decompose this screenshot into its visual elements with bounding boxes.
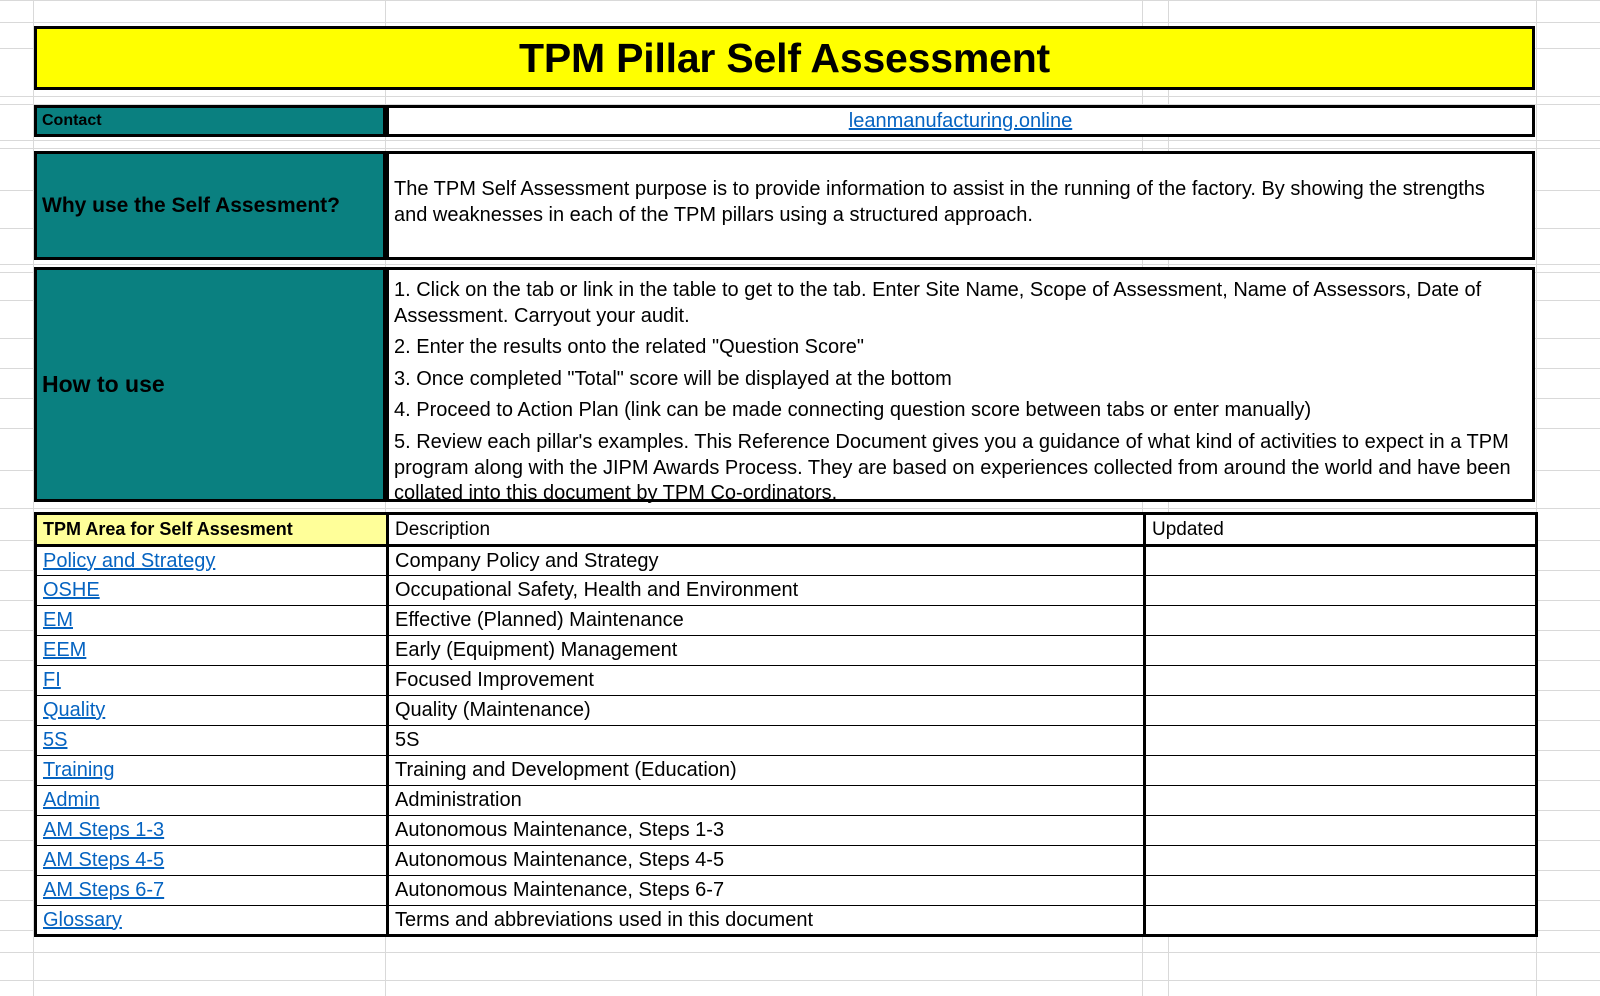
- cell-area: OSHE: [36, 576, 388, 606]
- table-row: EMEffective (Planned) Maintenance: [36, 606, 1537, 636]
- table-row: QualityQuality (Maintenance): [36, 696, 1537, 726]
- cell-area: Admin: [36, 786, 388, 816]
- cell-description: Occupational Safety, Health and Environm…: [388, 576, 1145, 606]
- column-header-description: Description: [388, 514, 1145, 546]
- cell-description: Administration: [388, 786, 1145, 816]
- table-row: OSHEOccupational Safety, Health and Envi…: [36, 576, 1537, 606]
- cell-updated[interactable]: [1145, 666, 1537, 696]
- cell-description: 5S: [388, 726, 1145, 756]
- worksheet-canvas: TPM Pillar Self Assessment Contact leanm…: [0, 0, 1600, 996]
- how-to-use-step: 3. Once completed "Total" score will be …: [394, 367, 1526, 393]
- contact-label-cell: Contact: [34, 105, 386, 137]
- cell-updated[interactable]: [1145, 576, 1537, 606]
- cell-updated[interactable]: [1145, 696, 1537, 726]
- cell-area: Policy and Strategy: [36, 546, 388, 576]
- cell-updated[interactable]: [1145, 816, 1537, 846]
- cell-area: EM: [36, 606, 388, 636]
- pillar-link-fi[interactable]: FI: [43, 669, 61, 691]
- page-title-banner: TPM Pillar Self Assessment: [34, 26, 1535, 90]
- how-to-use-step: 5. Review each pillar's examples. This R…: [394, 430, 1526, 507]
- cell-description: Autonomous Maintenance, Steps 1-3: [388, 816, 1145, 846]
- cell-description: Early (Equipment) Management: [388, 636, 1145, 666]
- cell-updated[interactable]: [1145, 786, 1537, 816]
- cell-description: Training and Development (Education): [388, 756, 1145, 786]
- pillar-link-am-steps-6-7[interactable]: AM Steps 6-7: [43, 879, 164, 901]
- pillar-link-em[interactable]: EM: [43, 609, 73, 631]
- cell-description: Autonomous Maintenance, Steps 6-7: [388, 876, 1145, 906]
- cell-area: Training: [36, 756, 388, 786]
- table-row: FIFocused Improvement: [36, 666, 1537, 696]
- pillar-link-quality[interactable]: Quality: [43, 699, 105, 721]
- pillar-link-training[interactable]: Training: [43, 759, 115, 781]
- how-to-use-value-cell: 1. Click on the tab or link in the table…: [386, 267, 1535, 502]
- cell-updated[interactable]: [1145, 636, 1537, 666]
- pillar-link-eem[interactable]: EEM: [43, 639, 86, 661]
- cell-area: AM Steps 1-3: [36, 816, 388, 846]
- pillar-link-policy-and-strategy[interactable]: Policy and Strategy: [43, 550, 215, 572]
- why-label-cell: Why use the Self Assesment?: [34, 151, 386, 260]
- how-to-use-step: 1. Click on the tab or link in the table…: [394, 278, 1526, 329]
- cell-updated[interactable]: [1145, 906, 1537, 936]
- table-row: GlossaryTerms and abbreviations used in …: [36, 906, 1537, 936]
- contact-website-link[interactable]: leanmanufacturing.online: [849, 110, 1073, 133]
- table-row: EEMEarly (Equipment) Management: [36, 636, 1537, 666]
- pillar-link-oshe[interactable]: OSHE: [43, 579, 100, 601]
- why-value-cell: The TPM Self Assessment purpose is to pr…: [386, 151, 1535, 260]
- pillar-link-admin[interactable]: Admin: [43, 789, 100, 811]
- cell-updated[interactable]: [1145, 606, 1537, 636]
- cell-description: Quality (Maintenance): [388, 696, 1145, 726]
- cell-area: Quality: [36, 696, 388, 726]
- cell-updated[interactable]: [1145, 726, 1537, 756]
- column-header-area: TPM Area for Self Assesment: [36, 514, 388, 546]
- table-header-row: TPM Area for Self Assesment Description …: [36, 514, 1537, 546]
- cell-area: FI: [36, 666, 388, 696]
- why-text: The TPM Self Assessment purpose is to pr…: [394, 178, 1485, 226]
- table-row: AM Steps 4-5Autonomous Maintenance, Step…: [36, 846, 1537, 876]
- how-to-use-step: 4. Proceed to Action Plan (link can be m…: [394, 398, 1526, 424]
- pillar-link-am-steps-4-5[interactable]: AM Steps 4-5: [43, 849, 164, 871]
- cell-updated[interactable]: [1145, 756, 1537, 786]
- table-row: AM Steps 6-7Autonomous Maintenance, Step…: [36, 876, 1537, 906]
- cell-description: Autonomous Maintenance, Steps 4-5: [388, 846, 1145, 876]
- table-row: Policy and StrategyCompany Policy and St…: [36, 546, 1537, 576]
- pillar-link-5s[interactable]: 5S: [43, 729, 67, 751]
- page-title: TPM Pillar Self Assessment: [519, 38, 1050, 79]
- cell-area: EEM: [36, 636, 388, 666]
- cell-area: Glossary: [36, 906, 388, 936]
- how-to-use-label-cell: How to use: [34, 267, 386, 502]
- cell-area: AM Steps 4-5: [36, 846, 388, 876]
- table-body: Policy and StrategyCompany Policy and St…: [36, 546, 1537, 936]
- why-label: Why use the Self Assesment?: [42, 194, 340, 218]
- cell-updated[interactable]: [1145, 546, 1537, 576]
- cell-updated[interactable]: [1145, 846, 1537, 876]
- table-row: AdminAdministration: [36, 786, 1537, 816]
- cell-description: Focused Improvement: [388, 666, 1145, 696]
- how-to-use-label: How to use: [42, 371, 165, 398]
- how-to-use-step: 2. Enter the results onto the related "Q…: [394, 335, 1526, 361]
- cell-description: Company Policy and Strategy: [388, 546, 1145, 576]
- table-row: TrainingTraining and Development (Educat…: [36, 756, 1537, 786]
- contact-label: Contact: [42, 112, 102, 130]
- tpm-areas-table: TPM Area for Self Assesment Description …: [34, 512, 1538, 937]
- cell-description: Terms and abbreviations used in this doc…: [388, 906, 1145, 936]
- table-row: 5S5S: [36, 726, 1537, 756]
- cell-description: Effective (Planned) Maintenance: [388, 606, 1145, 636]
- contact-value-cell: leanmanufacturing.online: [386, 105, 1535, 137]
- table-row: AM Steps 1-3Autonomous Maintenance, Step…: [36, 816, 1537, 846]
- pillar-link-am-steps-1-3[interactable]: AM Steps 1-3: [43, 819, 164, 841]
- cell-updated[interactable]: [1145, 876, 1537, 906]
- cell-area: 5S: [36, 726, 388, 756]
- pillar-link-glossary[interactable]: Glossary: [43, 909, 122, 931]
- cell-area: AM Steps 6-7: [36, 876, 388, 906]
- column-header-updated: Updated: [1145, 514, 1537, 546]
